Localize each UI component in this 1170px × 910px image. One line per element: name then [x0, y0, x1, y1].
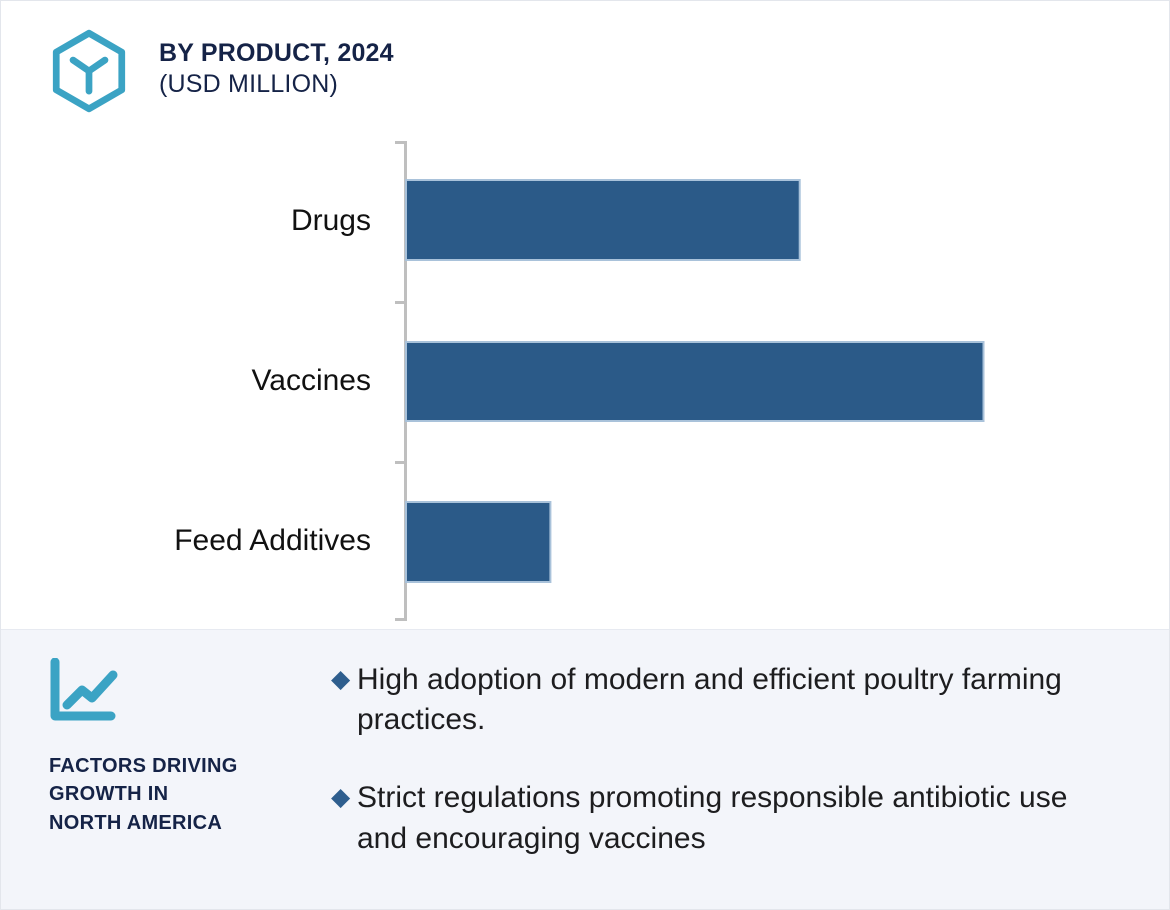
bar-drugs: [406, 180, 800, 260]
category-label-vaccines: Vaccines: [251, 364, 371, 397]
bar-feed-additives: [406, 502, 550, 582]
hexagon-y-icon: [47, 29, 131, 113]
list-item: ◆ High adoption of modern and efficient …: [331, 660, 1121, 740]
bar-vaccines: [406, 342, 984, 421]
bar-chart: Drugs Vaccines Feed Additives: [1, 131, 1170, 631]
category-label-drugs: Drugs: [291, 204, 371, 237]
factors-bullet-list: ◆ High adoption of modern and efficient …: [331, 630, 1170, 910]
factors-left-column: FACTORS DRIVING GROWTH IN NORTH AMERICA: [1, 630, 331, 910]
page-subtitle: (USD MILLION): [159, 70, 394, 99]
factor-text-1: High adoption of modern and efficient po…: [357, 660, 1087, 740]
factors-panel: FACTORS DRIVING GROWTH IN NORTH AMERICA …: [1, 629, 1170, 910]
factor-text-2: Strict regulations promoting responsible…: [357, 778, 1087, 858]
line-chart-icon: [49, 658, 123, 724]
chart-canvas: Drugs Vaccines Feed Additives: [1, 131, 1170, 631]
factors-heading-line-3: NORTH AMERICA: [49, 809, 331, 837]
infographic-card: BY PRODUCT, 2024 (USD MILLION) Dr: [0, 0, 1170, 910]
bar-series: [406, 180, 984, 582]
diamond-bullet-icon: ◆: [331, 660, 357, 692]
header: BY PRODUCT, 2024 (USD MILLION): [47, 29, 394, 113]
list-item: ◆ Strict regulations promoting responsib…: [331, 778, 1121, 858]
factors-heading-line-2: GROWTH IN: [49, 780, 331, 808]
page-title: BY PRODUCT, 2024: [159, 39, 394, 68]
diamond-bullet-icon: ◆: [331, 778, 357, 810]
factors-heading: FACTORS DRIVING GROWTH IN NORTH AMERICA: [49, 752, 331, 837]
header-text: BY PRODUCT, 2024 (USD MILLION): [159, 29, 394, 99]
factors-heading-line-1: FACTORS DRIVING: [49, 752, 331, 780]
category-label-feed-additives: Feed Additives: [174, 524, 371, 557]
